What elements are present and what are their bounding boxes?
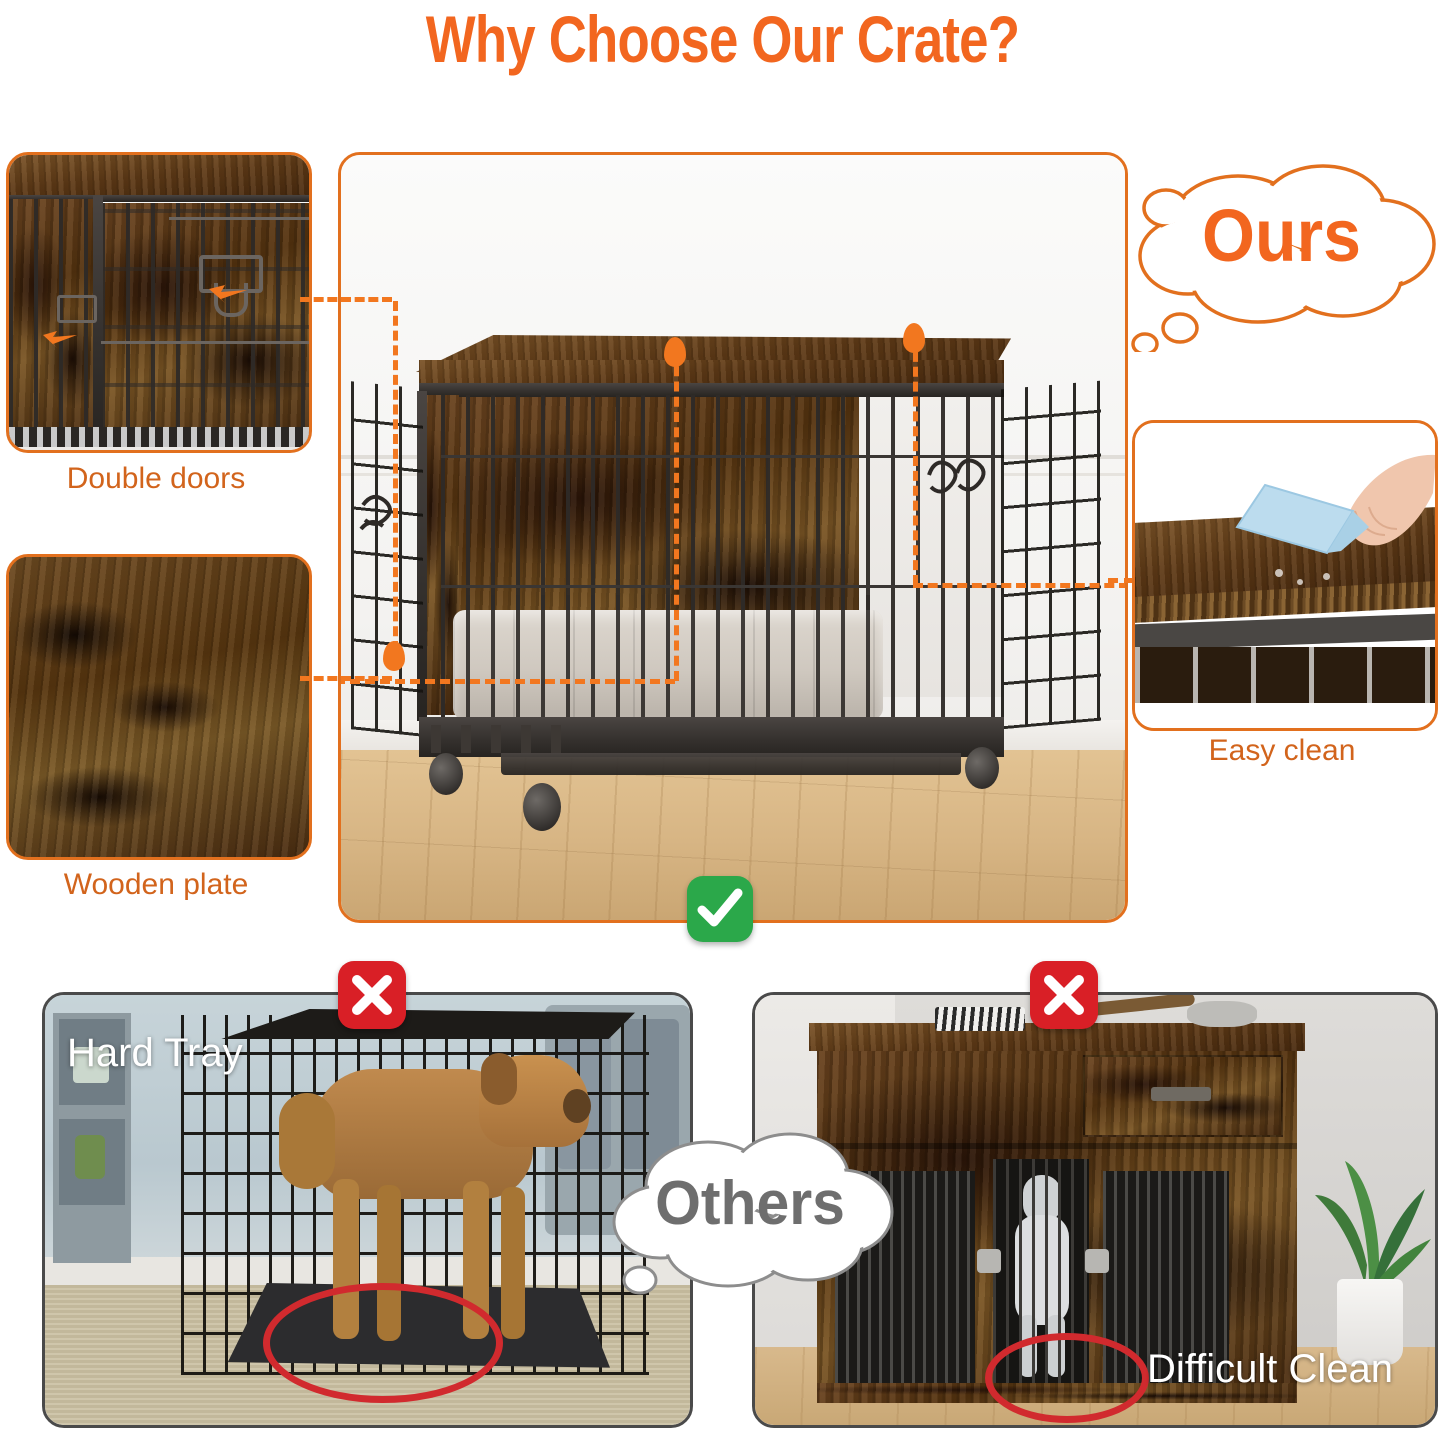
overlay-label-difficult-clean: Difficult Clean xyxy=(1147,1347,1393,1391)
page-title: Why Choose Our Crate? xyxy=(145,2,1301,76)
connector-wooden-plate xyxy=(300,676,392,681)
overlay-label-hard-tray: Hard Tray xyxy=(67,1031,243,1075)
callout-pin xyxy=(383,641,405,671)
ours-bubble: Ours xyxy=(1118,152,1445,352)
callout-pin xyxy=(903,323,925,353)
arrow-marker-icon xyxy=(207,283,249,305)
feature-panel-double-doors xyxy=(6,152,312,453)
caster-wheel xyxy=(429,753,463,795)
feature-panel-easy-clean xyxy=(1132,420,1438,731)
caster-wheel xyxy=(965,747,999,789)
highlight-ellipse xyxy=(985,1333,1149,1423)
caster-wheel xyxy=(523,783,561,831)
highlight-ellipse xyxy=(263,1283,503,1403)
callout-line-door xyxy=(393,301,398,651)
crate-right-door xyxy=(1001,381,1101,730)
arrow-marker-icon xyxy=(41,329,79,349)
comparison-panel-hard-tray: Hard Tray xyxy=(42,992,693,1428)
callout-pin xyxy=(664,337,686,367)
photo-double-doors xyxy=(9,155,309,450)
check-badge xyxy=(687,876,753,942)
hinge-icon xyxy=(977,1249,1001,1273)
latch-icon xyxy=(353,485,415,545)
infographic-root: Why Choose Our Crate? xyxy=(0,0,1445,1436)
caption-double-doors: Double doors xyxy=(6,462,306,496)
door-latch-side xyxy=(57,295,97,323)
cross-icon xyxy=(1042,973,1086,1017)
cross-icon xyxy=(350,973,394,1017)
caption-wooden-plate: Wooden plate xyxy=(6,868,306,902)
callout-line-clean xyxy=(913,337,918,585)
others-bubble: Others xyxy=(600,1120,900,1320)
photo-ours-crate xyxy=(341,155,1125,920)
photo-easy-clean xyxy=(1135,423,1435,728)
check-icon xyxy=(697,888,743,930)
connector-double-doors xyxy=(300,297,392,302)
feature-panel-wooden-plate xyxy=(6,554,312,860)
photo-hard-tray: Hard Tray xyxy=(45,995,690,1425)
photo-wooden-plate xyxy=(9,557,309,857)
cross-badge xyxy=(1030,961,1098,1029)
potted-plant xyxy=(1311,1115,1431,1365)
cloth-icon xyxy=(1231,481,1371,559)
caption-easy-clean: Easy clean xyxy=(1132,734,1432,768)
main-product-photo xyxy=(338,152,1128,923)
cross-badge xyxy=(338,961,406,1029)
latch-icon xyxy=(921,445,991,503)
others-bubble-label: Others xyxy=(608,1170,893,1238)
callout-line-clean-h xyxy=(913,583,1128,588)
hinge-icon xyxy=(1085,1249,1109,1273)
ours-bubble-label: Ours xyxy=(1131,196,1432,276)
callout-line-top xyxy=(674,351,679,681)
